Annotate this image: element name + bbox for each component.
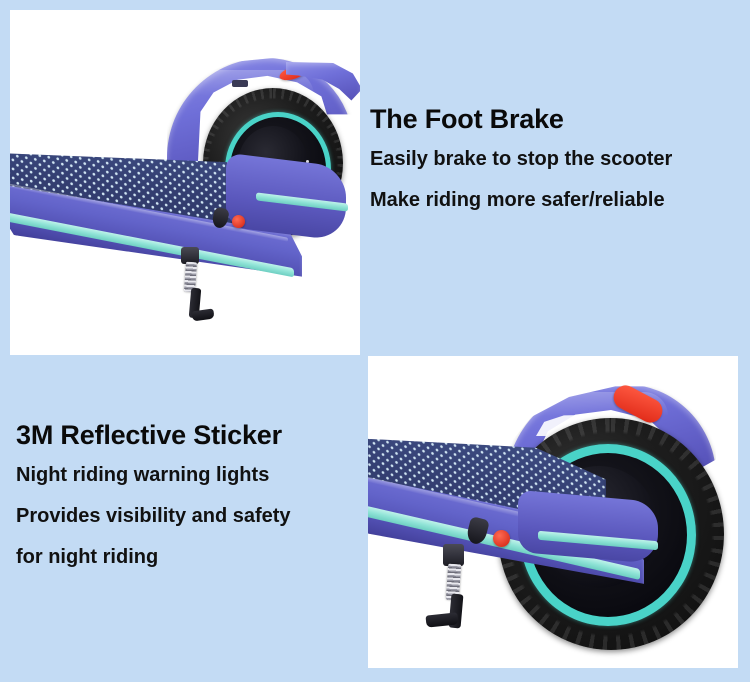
feature-text-foot-brake: The Foot Brake Easily brake to stop the … xyxy=(370,104,742,210)
deck-rear-body xyxy=(518,490,658,564)
kickstand-foot xyxy=(191,309,214,322)
kickstand-bracket xyxy=(443,544,464,566)
feature-line-foot-brake-2: Make riding more safer/reliable xyxy=(370,190,742,210)
photo-card-foot-brake xyxy=(10,10,360,355)
feature-line-reflective-1: Night riding warning lights xyxy=(16,465,360,485)
feature-line-foot-brake-1: Easily brake to stop the scooter xyxy=(370,149,742,169)
feature-text-reflective-sticker: 3M Reflective Sticker Night riding warni… xyxy=(16,420,360,567)
feature-line-reflective-3: for night riding xyxy=(16,547,360,567)
fender-slot xyxy=(232,80,248,87)
feature-title-foot-brake: The Foot Brake xyxy=(370,104,742,135)
photo-card-reflective-sticker xyxy=(368,356,738,668)
feature-title-reflective-sticker: 3M Reflective Sticker xyxy=(16,420,360,451)
feature-line-reflective-2: Provides visibility and safety xyxy=(16,506,360,526)
scooter-photo-reflective-sticker xyxy=(368,356,738,668)
infographic-page: The Foot Brake Easily brake to stop the … xyxy=(0,0,750,682)
power-button[interactable] xyxy=(493,530,510,547)
power-button[interactable] xyxy=(232,215,245,228)
scooter-photo-foot-brake xyxy=(10,10,360,355)
